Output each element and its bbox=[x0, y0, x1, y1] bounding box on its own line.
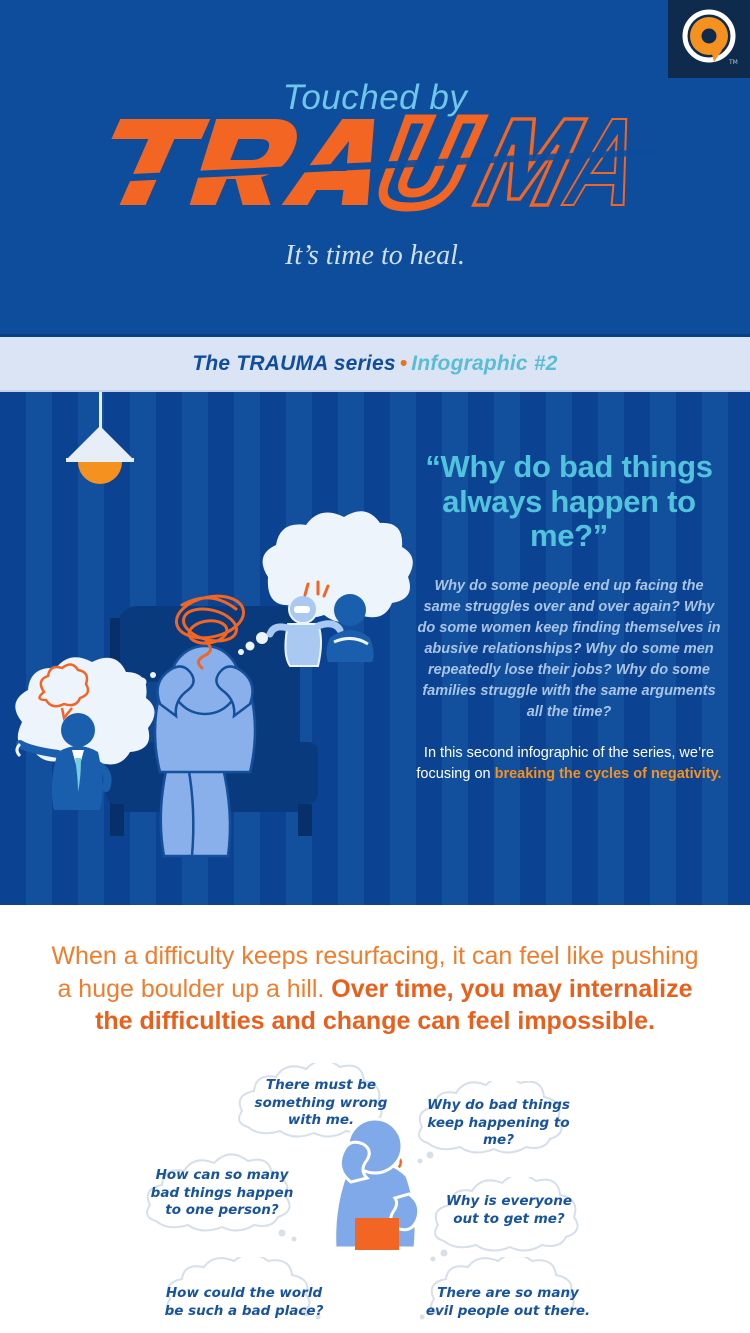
thought-bubble-6: There are so many evil people out there. bbox=[424, 1285, 592, 1320]
intro-focus-text: In this second infographic of the series… bbox=[415, 743, 723, 785]
hero-title-wordmark bbox=[0, 105, 750, 225]
infographic-page: TM Touched by bbox=[0, 0, 750, 1333]
series-label: The TRAUMA series bbox=[192, 352, 395, 375]
thought-bubble-4: Why is everyone out to get me? bbox=[434, 1193, 584, 1228]
boulder-lead-text: When a difficulty keeps resurfacing, it … bbox=[45, 940, 705, 1038]
thought-bubble-5: How could the world be such a bad place? bbox=[164, 1285, 324, 1320]
q-speech-bubble-logo-icon: TM bbox=[678, 8, 740, 70]
bedroom-illustration bbox=[0, 392, 420, 905]
thinking-person-pushing-boulder-icon bbox=[305, 1090, 445, 1250]
intro-text-block: “Why do bad things always happen to me?”… bbox=[415, 450, 723, 785]
boulder-section: When a difficulty keeps resurfacing, it … bbox=[0, 905, 750, 1333]
banner-separator-dot: • bbox=[400, 352, 408, 375]
intro-headline: “Why do bad things always happen to me?” bbox=[415, 450, 723, 554]
hero-section: TM Touched by bbox=[0, 0, 750, 334]
intro-focus-highlight: breaking the cycles of negativity. bbox=[495, 766, 722, 782]
arguing-couple-thought-cloud-icon bbox=[238, 511, 413, 666]
intro-section: “Why do bad things always happen to me?”… bbox=[0, 392, 750, 905]
svg-text:TM: TM bbox=[728, 59, 738, 66]
hero-tagline: It’s time to heal. bbox=[0, 240, 750, 272]
thought-bubble-3: How can so many bad things happen to one… bbox=[146, 1167, 298, 1220]
issue-label: Infographic #2 bbox=[411, 352, 557, 375]
brand-logo: TM bbox=[668, 0, 750, 78]
intro-paragraph: Why do some people end up facing the sam… bbox=[415, 576, 723, 723]
series-banner: The TRAUMA series•Infographic #2 bbox=[0, 334, 750, 392]
